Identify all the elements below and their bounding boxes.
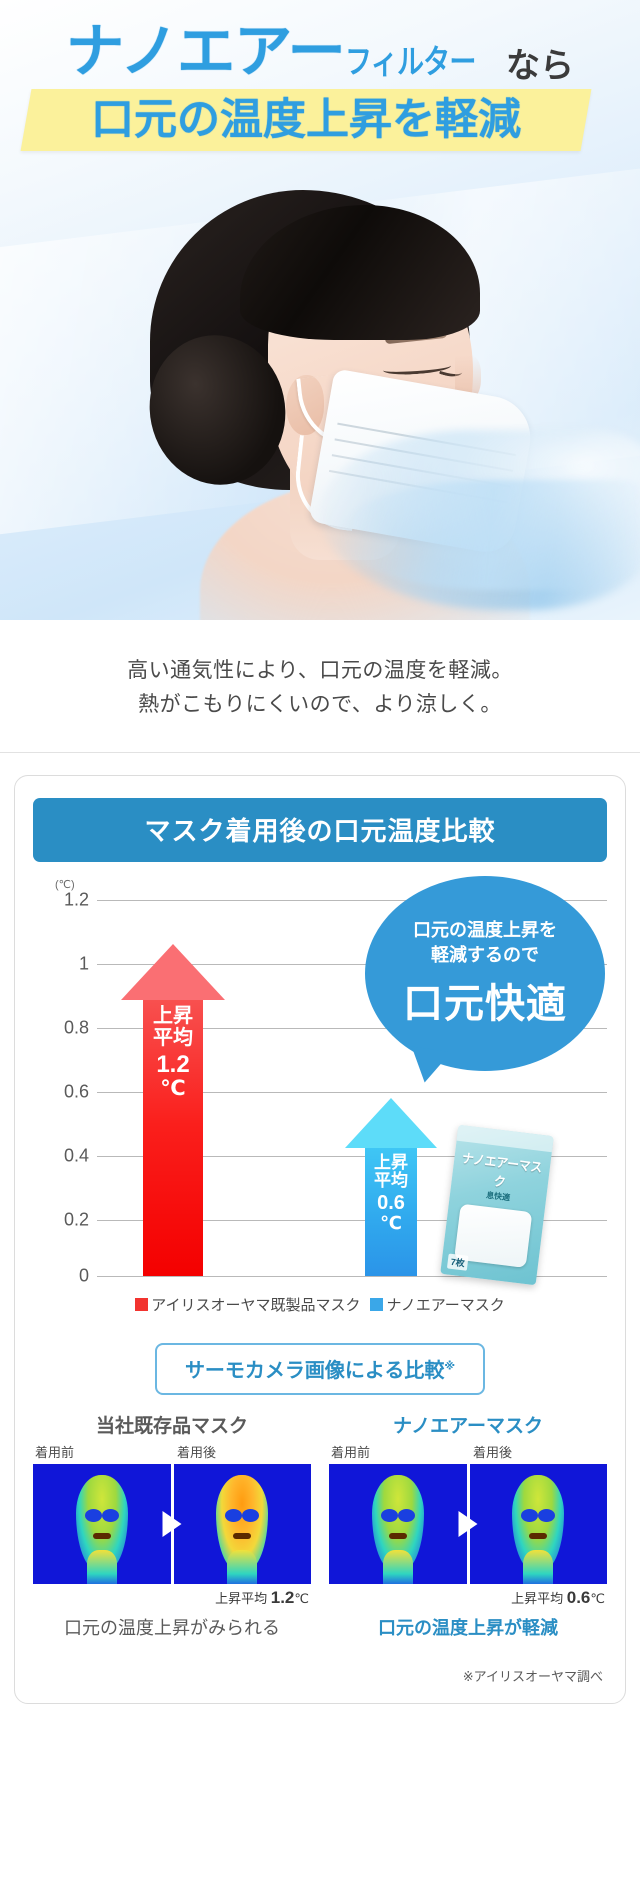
card-title: マスク着用後の口元温度比較 [33, 798, 607, 862]
thermo-mouth [389, 1533, 407, 1539]
lead-line-1: 高い通気性により、口元の温度を軽減。 [0, 654, 640, 688]
bar-existing-mask: 上昇 平均 1.2 ℃ [143, 944, 203, 1276]
thermo-mouth [529, 1533, 547, 1539]
thermo-progress-arrow-icon [163, 1511, 182, 1537]
thermo-after-label-existing: 着用後 [169, 1442, 311, 1461]
chart-legend: アイリスオーヤマ既製品マスクナノエアーマスク [33, 1294, 607, 1315]
source-note: ※アイリスオーヤマ調べ [33, 1666, 607, 1685]
thermo-image-pair-nanoair [329, 1464, 607, 1584]
thermo-before-label-nanoair: 着用前 [329, 1442, 465, 1461]
headline-nara: なら [506, 47, 574, 85]
bar-existing-unit: ℃ [143, 1078, 203, 1101]
thermo-title-footnote-mark: ※ [444, 1360, 455, 1372]
model-photo [0, 180, 640, 620]
thermo-rise-unit-existing: ℃ [294, 1591, 309, 1606]
bar-nanoair-arrowhead [345, 1098, 437, 1148]
lead-line-2: 熱がこもりにくいので、より涼しく。 [0, 688, 640, 722]
comfort-speech-bubble: 口元の温度上昇を 軽減するので 口元快適 [365, 876, 605, 1071]
section-divider [0, 752, 640, 753]
hero-section: ナノエアーフィルターなら 口元の温度上昇を軽減 [0, 0, 640, 620]
thermo-rise-prefix-existing: 上昇平均 [215, 1591, 267, 1606]
thermo-eye-left [381, 1509, 398, 1522]
legend-swatch-nanoair [370, 1298, 383, 1311]
bar-existing-arrowhead [121, 944, 225, 1000]
y-tick-1: 1 [33, 954, 89, 975]
package-count-badge: 7枚 [447, 1254, 469, 1271]
thermo-caption-existing: 口元の温度上昇がみられる [33, 1614, 311, 1640]
thermo-neck [87, 1550, 117, 1584]
bar-nanoair-value: 0.6 [365, 1193, 417, 1215]
thermo-before-label-existing: 着用前 [33, 1442, 169, 1461]
bar-existing-label: 上昇 平均 1.2 ℃ [143, 1006, 203, 1101]
y-tick-0.2: 0.2 [33, 1210, 89, 1231]
thermo-column-nanoair: ナノエアーマスク 着用前 着用後 [329, 1411, 607, 1640]
thermo-title-text: サーモカメラ画像による比較 [185, 1360, 444, 1382]
thermo-after-label-nanoair: 着用後 [465, 1442, 607, 1461]
thermo-image-after-existing [174, 1464, 312, 1584]
thermo-eye-left [225, 1509, 242, 1522]
y-tick-0.4: 0.4 [33, 1146, 89, 1167]
bubble-line-1: 口元の温度上昇を [413, 918, 557, 942]
thermo-column-existing: 当社既存品マスク 着用前 着用後 [33, 1411, 311, 1640]
thermo-eye-left [85, 1509, 102, 1522]
bar-nanoair-label: 上昇 平均 0.6 ℃ [365, 1154, 417, 1234]
thermo-eye-right [242, 1509, 259, 1522]
thermo-eye-left [521, 1509, 538, 1522]
thermo-neck [523, 1550, 553, 1584]
bubble-headline: 口元快適 [403, 971, 567, 1029]
airflow-graphic-secondary [340, 480, 640, 590]
thermo-section-title: サーモカメラ画像による比較※ [155, 1343, 485, 1395]
y-tick-0.8: 0.8 [33, 1018, 89, 1039]
comparison-card: マスク着用後の口元温度比較 (℃) 1.2 1 0.8 0.6 0.4 0.2 … [14, 775, 626, 1704]
bar-existing-value: 1.2 [143, 1052, 203, 1078]
thermo-mouth [93, 1533, 111, 1539]
headline-highlight-band: 口元の温度上昇を軽減 [21, 89, 592, 151]
bubble-line-2: 軽減するので [431, 943, 539, 967]
thermo-sublabels-existing: 着用前 着用後 [33, 1442, 311, 1461]
brand-filter-suffix: フィルター [345, 45, 476, 78]
thermo-rise-existing: 上昇平均 1.2℃ [33, 1588, 311, 1608]
thermo-rise-unit-nanoair: ℃ [590, 1591, 605, 1606]
thermo-caption-nanoair: 口元の温度上昇が軽減 [329, 1614, 607, 1640]
thermo-image-pair-existing [33, 1464, 311, 1584]
thermo-neck [383, 1550, 413, 1584]
thermo-rise-value-nanoair: 0.6 [567, 1588, 591, 1607]
thermo-image-before-nanoair [329, 1464, 467, 1584]
thermo-eye-right [538, 1509, 555, 1522]
bar-nanoair-prefix1: 上昇 [374, 1153, 408, 1172]
brand-name: ナノエアー [66, 17, 345, 85]
chart-plot-area: 上昇 平均 1.2 ℃ 上昇 平均 0.6 ℃ 口元の温度上昇を [97, 882, 607, 1282]
thermo-neck [227, 1550, 257, 1584]
thermo-eye-right [398, 1509, 415, 1522]
lead-paragraph: 高い通気性により、口元の温度を軽減。 熱がこもりにくいので、より涼しく。 [0, 620, 640, 752]
thermo-rise-prefix-nanoair: 上昇平均 [511, 1591, 563, 1606]
legend-swatch-existing [135, 1298, 148, 1311]
legend-label-nanoair: ナノエアーマスク [386, 1297, 504, 1314]
legend-label-existing: アイリスオーヤマ既製品マスク [151, 1297, 360, 1314]
y-tick-1.2: 1.2 [33, 890, 89, 911]
bar-nanoair-unit: ℃ [365, 1214, 417, 1233]
bar-nanoair-prefix2: 平均 [374, 1171, 408, 1190]
y-tick-0.6: 0.6 [33, 1082, 89, 1103]
thermo-rise-nanoair: 上昇平均 0.6℃ [329, 1588, 607, 1608]
thermo-image-before-existing [33, 1464, 171, 1584]
bar-existing-prefix2: 平均 [153, 1027, 193, 1049]
thermo-sublabels-nanoair: 着用前 着用後 [329, 1442, 607, 1461]
headline-line-2: 口元の温度上昇を軽減 [26, 89, 586, 151]
headline-line-1: ナノエアーフィルターなら [0, 0, 640, 83]
thermo-comparison-row: 当社既存品マスク 着用前 着用後 [33, 1411, 607, 1640]
bar-existing-prefix1: 上昇 [153, 1005, 193, 1027]
thermo-heading-existing: 当社既存品マスク [33, 1411, 311, 1438]
thermo-eye-right [102, 1509, 119, 1522]
thermo-heading-nanoair: ナノエアーマスク [329, 1411, 607, 1438]
y-tick-0: 0 [33, 1266, 89, 1287]
thermo-image-after-nanoair [470, 1464, 608, 1584]
temperature-bar-chart: (℃) 1.2 1 0.8 0.6 0.4 0.2 0 上昇 平均 1.2 ℃ [33, 882, 607, 1282]
product-package-image: ナノエアーマスク 息快適 7枚 [440, 1125, 554, 1286]
bar-nanoair-mask: 上昇 平均 0.6 ℃ [365, 1098, 417, 1276]
headline-block: ナノエアーフィルターなら 口元の温度上昇を軽減 [0, 0, 640, 151]
thermo-progress-arrow-icon [459, 1511, 478, 1537]
thermo-mouth [233, 1533, 251, 1539]
thermo-rise-value-existing: 1.2 [271, 1588, 295, 1607]
